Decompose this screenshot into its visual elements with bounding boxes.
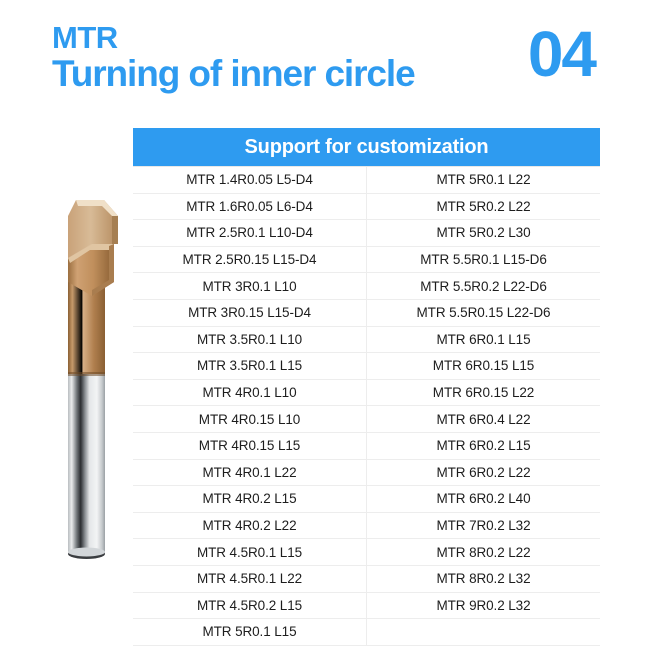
spec-code-left: MTR 2.5R0.1 L10-D4 xyxy=(133,220,367,246)
table-row: MTR 2.5R0.1 L10-D4 MTR 5R0.2 L30 xyxy=(133,220,600,247)
spec-code-right: MTR 6R0.15 L22 xyxy=(367,380,600,406)
spec-code-left: MTR 4R0.15 L15 xyxy=(133,433,367,459)
spec-code-right: MTR 8R0.2 L32 xyxy=(367,566,600,592)
spec-table: Support for customization MTR 1.4R0.05 L… xyxy=(133,128,600,646)
spec-code-left: MTR 3.5R0.1 L15 xyxy=(133,353,367,379)
spec-code-right: MTR 5.5R0.15 L22-D6 xyxy=(367,300,600,326)
table-row: MTR 5R0.1 L15 xyxy=(133,619,600,646)
table-row: MTR 1.6R0.05 L6-D4 MTR 5R0.2 L22 xyxy=(133,194,600,221)
spec-code-left: MTR 4R0.2 L15 xyxy=(133,486,367,512)
table-row: MTR 3R0.15 L15-D4 MTR 5.5R0.15 L22-D6 xyxy=(133,300,600,327)
table-row: MTR 4.5R0.2 L15 MTR 9R0.2 L32 xyxy=(133,593,600,620)
spec-code-right: MTR 6R0.2 L15 xyxy=(367,433,600,459)
spec-code-left: MTR 4R0.2 L22 xyxy=(133,513,367,539)
title-block: MTR Turning of inner circle xyxy=(52,22,415,96)
section-number: 04 xyxy=(528,22,595,86)
table-row: MTR 4R0.1 L22 MTR 6R0.2 L22 xyxy=(133,460,600,487)
spec-code-left: MTR 4.5R0.1 L15 xyxy=(133,539,367,565)
spec-code-right: MTR 6R0.2 L22 xyxy=(367,460,600,486)
table-row: MTR 3.5R0.1 L15 MTR 6R0.15 L15 xyxy=(133,353,600,380)
table-header-label: Support for customization xyxy=(245,136,489,159)
spec-code-left: MTR 4.5R0.2 L15 xyxy=(133,593,367,619)
table-row: MTR 3R0.1 L10 MTR 5.5R0.2 L22-D6 xyxy=(133,273,600,300)
spec-code-right: MTR 7R0.2 L32 xyxy=(367,513,600,539)
table-row: MTR 4.5R0.1 L15 MTR 8R0.2 L22 xyxy=(133,539,600,566)
spec-code-right: MTR 5.5R0.2 L22-D6 xyxy=(367,273,600,299)
table-row: MTR 4R0.2 L22 MTR 7R0.2 L32 xyxy=(133,513,600,540)
table-row: MTR 4.5R0.1 L22 MTR 8R0.2 L32 xyxy=(133,566,600,593)
spec-code-right: MTR 9R0.2 L32 xyxy=(367,593,600,619)
table-row: MTR 3.5R0.1 L10 MTR 6R0.1 L15 xyxy=(133,327,600,354)
spec-code-left: MTR 2.5R0.15 L15-D4 xyxy=(133,247,367,273)
spec-code-right: MTR 5R0.2 L30 xyxy=(367,220,600,246)
spec-code-left: MTR 4.5R0.1 L22 xyxy=(133,566,367,592)
tool-cutting-head xyxy=(68,200,118,296)
spec-code-left: MTR 5R0.1 L15 xyxy=(133,619,367,645)
spec-code-left: MTR 1.6R0.05 L6-D4 xyxy=(133,194,367,220)
spec-code-left: MTR 1.4R0.05 L5-D4 xyxy=(133,167,367,193)
spec-code-right xyxy=(367,619,600,645)
table-row: MTR 4R0.15 L10 MTR 6R0.4 L22 xyxy=(133,406,600,433)
tool-shank xyxy=(68,372,105,559)
table-row: MTR 1.4R0.05 L5-D4 MTR 5R0.1 L22 xyxy=(133,167,600,194)
spec-code-right: MTR 6R0.15 L15 xyxy=(367,353,600,379)
series-code: MTR xyxy=(52,22,415,53)
table-header: Support for customization xyxy=(133,128,600,166)
table-body: MTR 1.4R0.05 L5-D4 MTR 5R0.1 L22 MTR 1.6… xyxy=(133,166,600,646)
page-header: MTR Turning of inner circle 04 xyxy=(0,0,650,118)
boring-bar-illustration xyxy=(46,186,126,566)
table-row: MTR 4R0.1 L10 MTR 6R0.15 L22 xyxy=(133,380,600,407)
spec-code-left: MTR 3R0.1 L10 xyxy=(133,273,367,299)
spec-code-left: MTR 4R0.1 L22 xyxy=(133,460,367,486)
spec-code-right: MTR 5R0.1 L22 xyxy=(367,167,600,193)
spec-code-right: MTR 6R0.2 L40 xyxy=(367,486,600,512)
spec-code-left: MTR 4R0.1 L10 xyxy=(133,380,367,406)
spec-code-right: MTR 5R0.2 L22 xyxy=(367,194,600,220)
table-row: MTR 2.5R0.15 L15-D4 MTR 5.5R0.1 L15-D6 xyxy=(133,247,600,274)
spec-code-left: MTR 3R0.15 L15-D4 xyxy=(133,300,367,326)
table-row: MTR 4R0.2 L15 MTR 6R0.2 L40 xyxy=(133,486,600,513)
spec-code-right: MTR 5.5R0.1 L15-D6 xyxy=(367,247,600,273)
spec-code-left: MTR 4R0.15 L10 xyxy=(133,406,367,432)
page-title: Turning of inner circle xyxy=(52,53,415,96)
spec-code-right: MTR 6R0.1 L15 xyxy=(367,327,600,353)
table-row: MTR 4R0.15 L15 MTR 6R0.2 L15 xyxy=(133,433,600,460)
spec-code-right: MTR 8R0.2 L22 xyxy=(367,539,600,565)
spec-code-right: MTR 6R0.4 L22 xyxy=(367,406,600,432)
spec-code-left: MTR 3.5R0.1 L10 xyxy=(133,327,367,353)
